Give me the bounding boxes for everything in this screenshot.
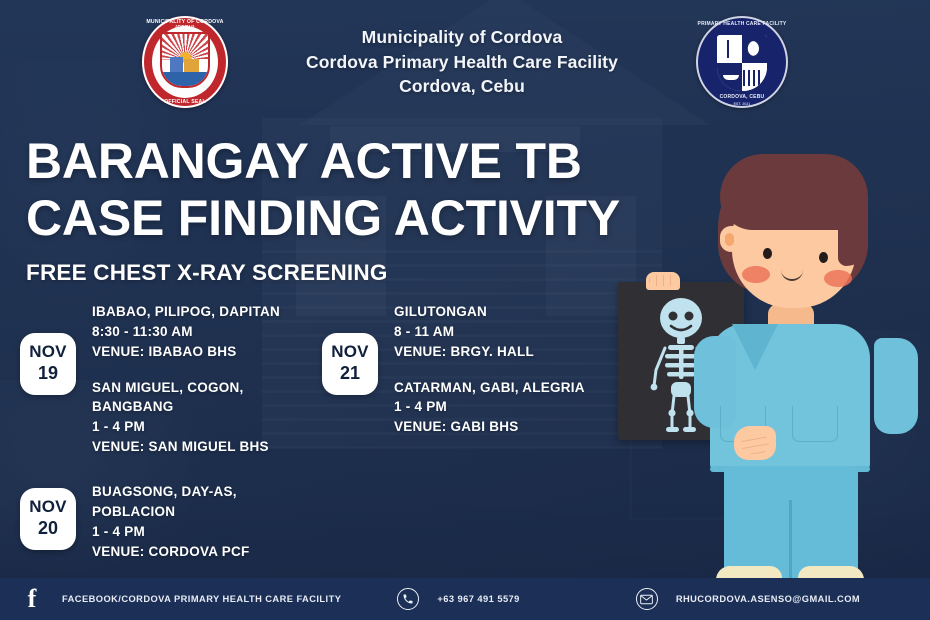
left-hand-holding-film [646, 272, 680, 290]
event-venue: VENUE: CORDOVA PCF [92, 542, 250, 562]
title-line-1: BARANGAY ACTIVE TB [26, 133, 686, 190]
right-hand [734, 426, 776, 460]
date-badge-nov-21: NOV 21 [322, 333, 378, 395]
facebook-handle: FACEBOOK/CORDOVA PRIMARY HEALTH CARE FAC… [62, 594, 341, 604]
date-badge-wrapper: NOV 21 [322, 300, 378, 395]
municipality-seal-icon: MUNICIPALITY OF CORDOVA (CEBU) OFFICIAL … [142, 16, 228, 108]
seal-building-left [170, 57, 183, 72]
worker-body [676, 148, 926, 588]
event-item: IBABAO, PILIPOG, DAPITAN 8:30 - 11:30 AM… [92, 302, 280, 362]
scrub-sleeve-right [874, 338, 918, 434]
footer-facebook[interactable]: f FACEBOOK/CORDOVA PRIMARY HEALTH CARE F… [20, 586, 341, 612]
event-time: 1 - 4 PM [92, 417, 280, 437]
phcf-quadrant-2 [742, 35, 767, 63]
event-list-nov-21: GILUTONGAN 8 - 11 AM VENUE: BRGY. HALL C… [394, 300, 585, 437]
event-item: CATARMAN, GABI, ALEGRIA 1 - 4 PM VENUE: … [394, 378, 585, 438]
eye-right [819, 252, 828, 263]
event-barangays: BUAGSONG, DAY-AS, POBLACION [92, 482, 250, 522]
page-title: BARANGAY ACTIVE TB CASE FINDING ACTIVITY… [26, 133, 686, 286]
health-worker-illustration [600, 148, 930, 588]
schedule-group-nov-19: NOV 19 IBABAO, PILIPOG, DAPITAN 8:30 - 1… [20, 300, 340, 457]
phcf-seal-bottom-text: CORDOVA, CEBU [696, 94, 788, 100]
event-barangays: SAN MIGUEL, COGON, BANGBANG [92, 378, 280, 418]
event-venue: VENUE: BRGY. HALL [394, 342, 585, 362]
boat-icon [723, 75, 739, 80]
event-time: 8:30 - 11:30 AM [92, 322, 280, 342]
pants-center-seam [789, 500, 792, 580]
seal-sea [162, 72, 208, 86]
event-item: SAN MIGUEL, COGON, BANGBANG 1 - 4 PM VEN… [92, 378, 280, 457]
phone-glyph [402, 593, 414, 605]
envelope-glyph [640, 593, 653, 606]
phcf-seal-top-text: PRIMARY HEALTH CARE FACILITY [696, 21, 788, 27]
contact-footer: f FACEBOOK/CORDOVA PRIMARY HEALTH CARE F… [0, 578, 930, 620]
caduceus-icon [727, 40, 729, 58]
header-line-3: Cordova, Cebu [306, 74, 618, 99]
phone-icon [397, 588, 419, 610]
date-badge-month: NOV [29, 498, 66, 517]
event-barangays: IBABAO, PILIPOG, DAPITAN [92, 302, 280, 322]
date-badge-nov-19: NOV 19 [20, 333, 76, 395]
event-list-nov-20: BUAGSONG, DAY-AS, POBLACION 1 - 4 PM VEN… [92, 480, 250, 561]
phcf-quadrant-3 [717, 63, 742, 91]
ear-left [720, 226, 740, 252]
date-badge-wrapper: NOV 20 [20, 480, 76, 550]
phcf-seal-shield [717, 35, 767, 91]
header-title-block: Municipality of Cordova Cordova Primary … [306, 25, 618, 100]
event-venue: VENUE: SAN MIGUEL BHS [92, 437, 280, 457]
cheek-left [742, 266, 770, 283]
schedule-group-nov-20: NOV 20 BUAGSONG, DAY-AS, POBLACION 1 - 4… [20, 480, 340, 561]
date-badge-day: 21 [340, 362, 360, 385]
event-venue: VENUE: GABI BHS [394, 417, 585, 437]
email-address: RHUCORDOVA.ASENSO@GMAIL.COM [676, 594, 860, 604]
seal-top-text: MUNICIPALITY OF CORDOVA (CEBU) [142, 19, 228, 31]
event-time: 1 - 4 PM [394, 397, 585, 417]
footer-email[interactable]: RHUCORDOVA.ASENSO@GMAIL.COM [636, 588, 860, 610]
date-badge-wrapper: NOV 19 [20, 300, 76, 395]
date-badge-day: 19 [38, 362, 58, 385]
event-time: 1 - 4 PM [92, 522, 250, 542]
date-badge-month: NOV [29, 343, 66, 362]
event-barangays: CATARMAN, GABI, ALEGRIA [394, 378, 585, 398]
date-badge-day: 20 [38, 517, 58, 540]
seal-bottom-text: OFFICIAL SEAL [142, 99, 228, 105]
seal-building-right [184, 59, 199, 72]
event-time: 8 - 11 AM [394, 322, 585, 342]
facebook-icon: f [20, 586, 44, 612]
title-line-2: CASE FINDING ACTIVITY [26, 190, 686, 247]
health-facility-seal-icon: PRIMARY HEALTH CARE FACILITY CORDOVA, CE… [696, 16, 788, 108]
header-line-2: Cordova Primary Health Care Facility [306, 50, 618, 75]
page-subtitle: FREE CHEST X-RAY SCREENING [26, 260, 686, 286]
event-barangays: GILUTONGAN [394, 302, 585, 322]
cheek-right [824, 270, 852, 287]
event-item: GILUTONGAN 8 - 11 AM VENUE: BRGY. HALL [394, 302, 585, 362]
poster-header: MUNICIPALITY OF CORDOVA (CEBU) OFFICIAL … [0, 8, 930, 116]
date-badge-month: NOV [331, 343, 368, 362]
event-venue: VENUE: IBABAO BHS [92, 342, 280, 362]
scrub-pocket-right [792, 406, 838, 442]
envelope-icon [636, 588, 658, 610]
header-line-1: Municipality of Cordova [306, 25, 618, 50]
event-item: BUAGSONG, DAY-AS, POBLACION 1 - 4 PM VEN… [92, 482, 250, 561]
shell-icon [746, 41, 759, 56]
phone-number: +63 967 491 5579 [437, 594, 519, 604]
phcf-seal-est-text: EST. 2021 [696, 102, 788, 106]
seal-shield [160, 32, 210, 88]
poster-canvas: MUNICIPALITY OF CORDOVA (CEBU) OFFICIAL … [0, 0, 930, 620]
phcf-quadrant-1 [717, 35, 742, 63]
footer-phone[interactable]: +63 967 491 5579 [397, 588, 519, 610]
schedule-group-nov-21: NOV 21 GILUTONGAN 8 - 11 AM VENUE: BRGY.… [322, 300, 622, 437]
event-list-nov-19: IBABAO, PILIPOG, DAPITAN 8:30 - 11:30 AM… [92, 300, 280, 457]
date-badge-nov-20: NOV 20 [20, 488, 76, 550]
hair-side [838, 192, 868, 266]
people-icon [743, 70, 763, 86]
phcf-quadrant-4 [742, 63, 767, 91]
eye-left [763, 248, 772, 259]
